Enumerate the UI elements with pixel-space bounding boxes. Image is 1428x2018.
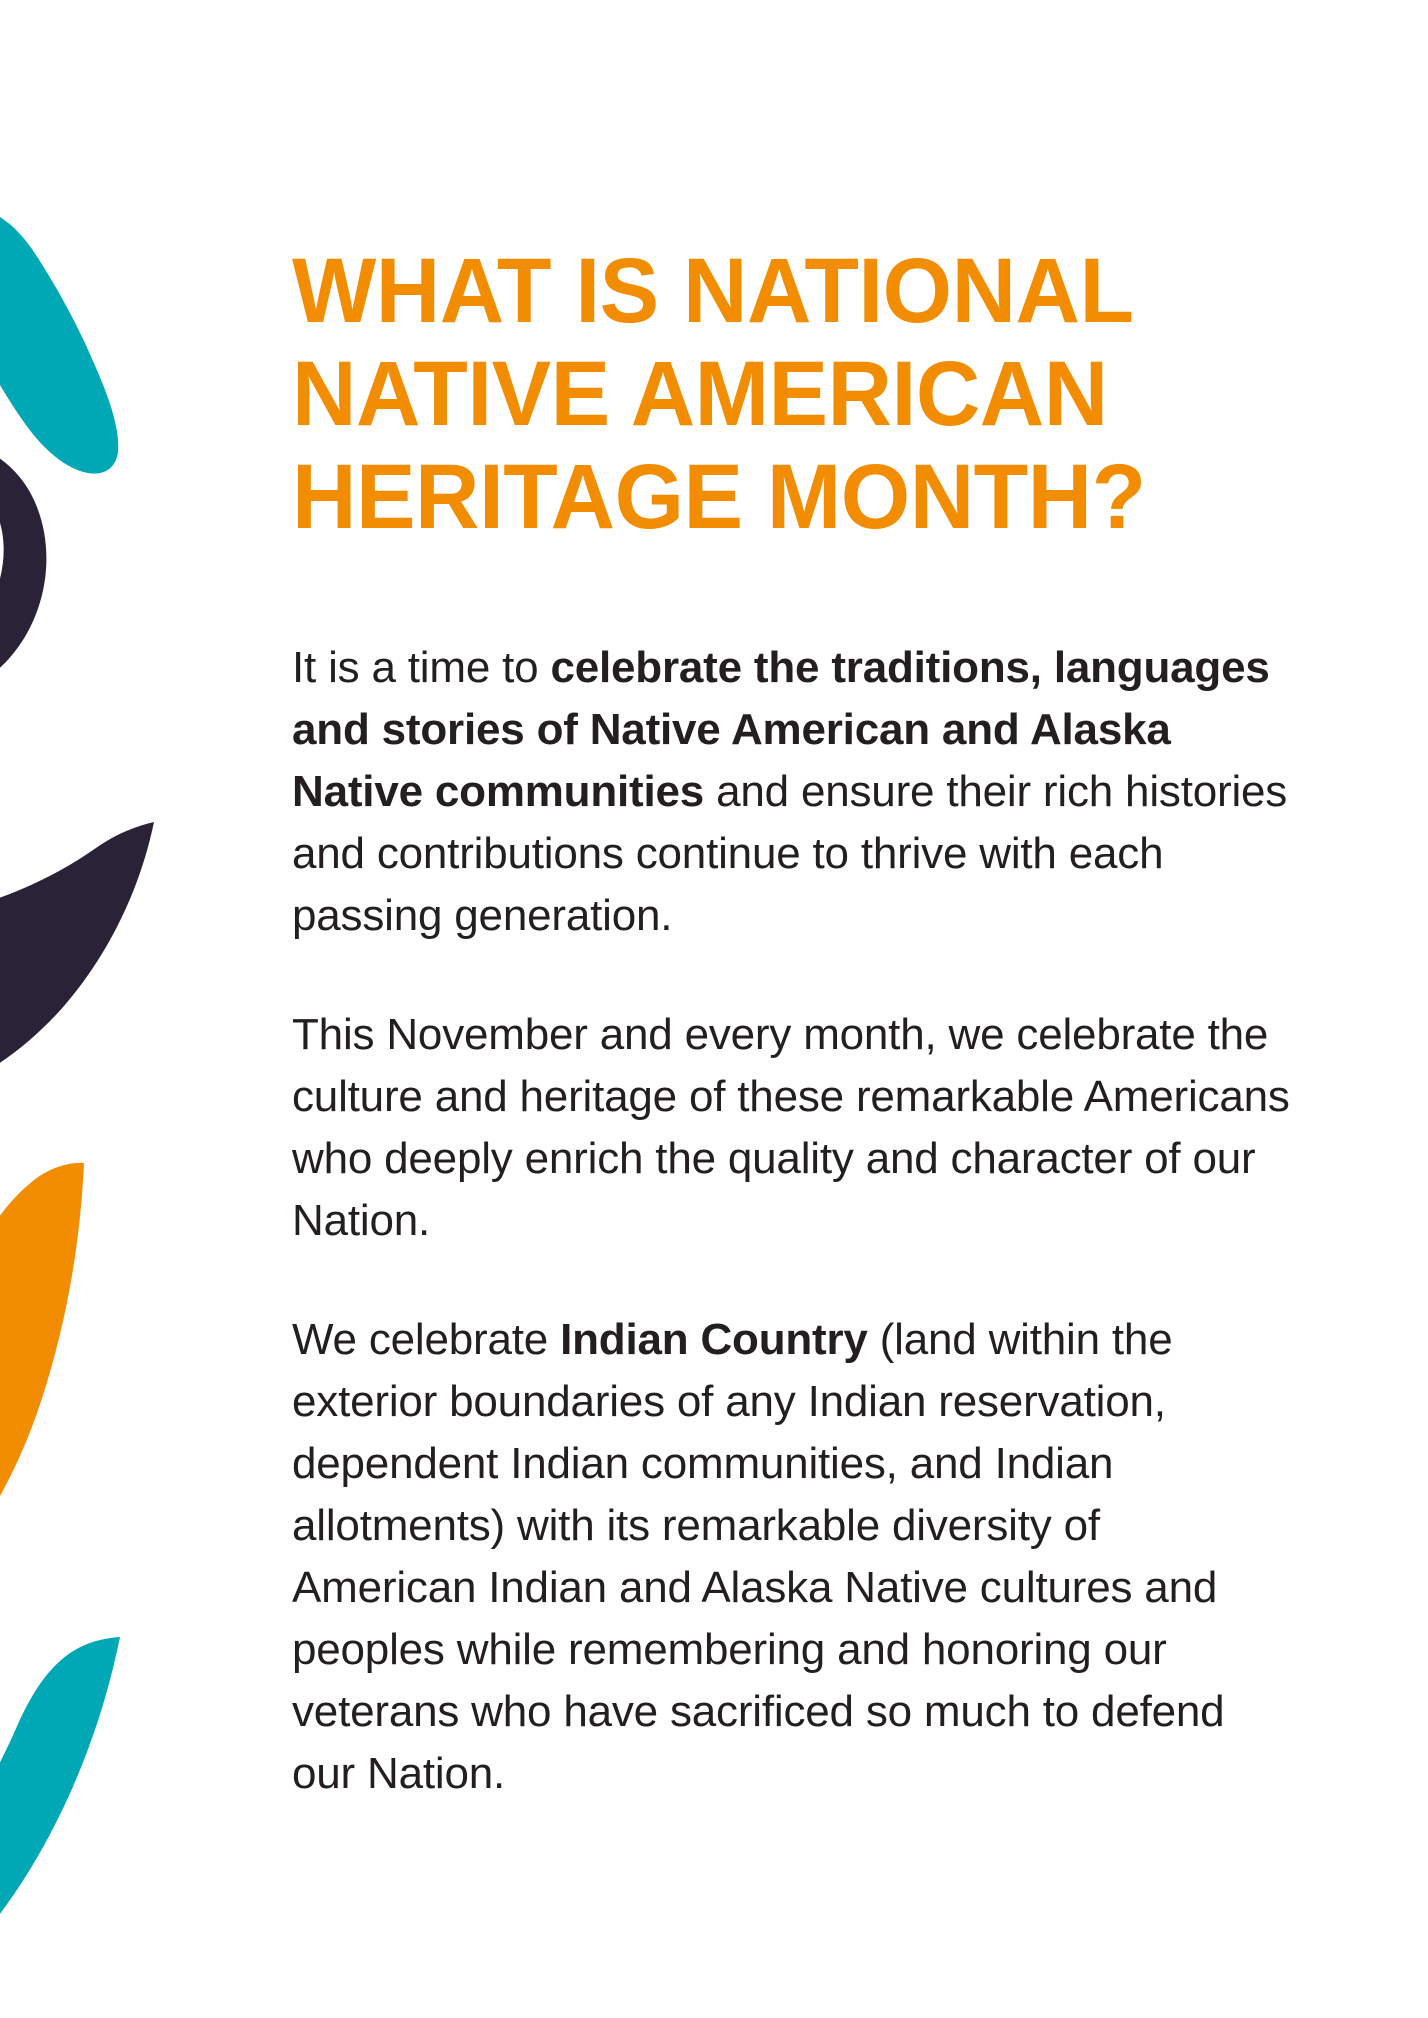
navy-crescent-shape — [0, 822, 154, 1104]
teal-feather-top-shape — [0, 204, 118, 474]
plain-text: It is a time to — [292, 643, 550, 692]
plain-text: We celebrate — [292, 1315, 560, 1364]
teal-sliver-bottom-shape — [0, 1637, 120, 2004]
emphasis-text: Indian Country — [560, 1315, 868, 1364]
body-paragraph-1: It is a time to celebrate the traditions… — [292, 637, 1292, 947]
orange-petal-shape — [0, 1163, 84, 1548]
plain-text: This November and every month, we celebr… — [292, 1010, 1290, 1245]
body-paragraph-2: This November and every month, we celebr… — [292, 1004, 1292, 1252]
page-title: WHAT IS NATIONAL NATIVE AMERICAN HERITAG… — [292, 0, 1262, 549]
navy-ring-shape — [0, 436, 46, 701]
body-paragraph-3: We celebrate Indian Country (land within… — [292, 1309, 1292, 1805]
plain-text: (land within the exterior boundaries of … — [292, 1315, 1224, 1798]
decorative-artwork — [0, 0, 230, 2018]
document-content: WHAT IS NATIONAL NATIVE AMERICAN HERITAG… — [292, 0, 1292, 1805]
